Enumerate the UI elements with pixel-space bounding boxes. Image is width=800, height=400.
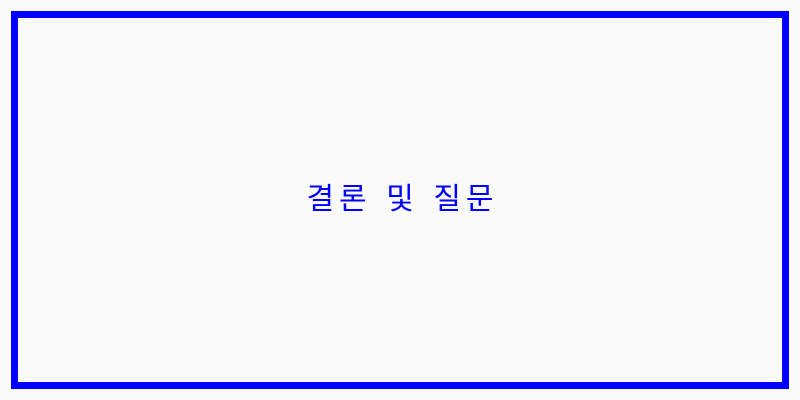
slide-title-block: 결론 및 질문 <box>18 183 782 217</box>
slide-canvas: 결론 및 질문 <box>0 0 800 400</box>
slide-title: 결론 및 질문 <box>42 183 758 217</box>
slide-border-frame: 결론 및 질문 <box>11 11 789 389</box>
